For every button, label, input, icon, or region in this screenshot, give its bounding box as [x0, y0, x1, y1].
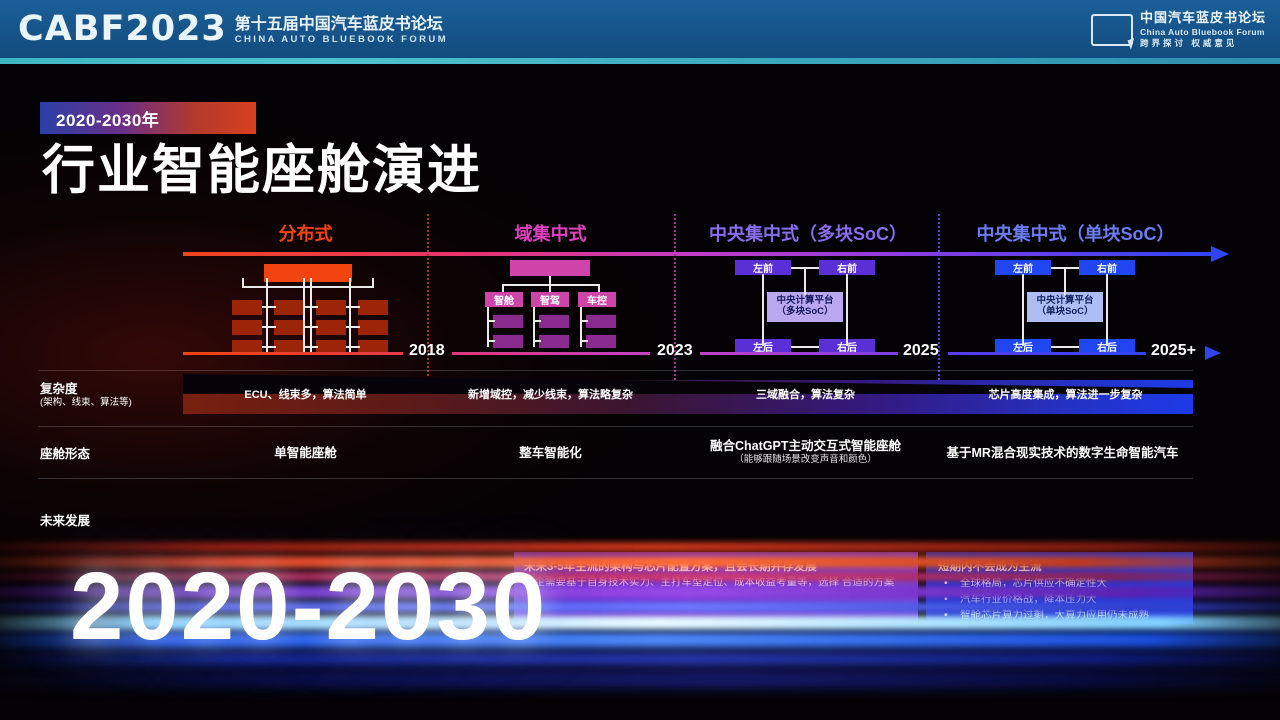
distributed-ecu [274, 320, 304, 335]
phase-divider-2 [938, 214, 940, 408]
cabf-logo-wordmark: CABF2023 [18, 12, 227, 47]
complexity-item-2: 三域融合，算法复杂 [673, 386, 938, 402]
domain-subnode [539, 315, 569, 328]
distributed-ecu [274, 300, 304, 315]
domain-subnode [539, 335, 569, 348]
distributed-ecu [232, 300, 262, 315]
phase-label-0: 分布式 [183, 220, 428, 246]
row-divider-bottom [38, 478, 1193, 479]
domain-link [502, 284, 600, 286]
architecture-diagram-domain: 智舱 智驾 车控 [485, 260, 615, 354]
distributed-link [304, 346, 318, 348]
distributed-link [346, 346, 360, 348]
year-segment-3 [948, 352, 1146, 355]
cursor-screen-icon [1091, 14, 1133, 46]
domain-link [598, 284, 600, 292]
evolution-arrow-head [1211, 246, 1229, 262]
zone-link [1022, 274, 1024, 346]
central-platform-title: 中央计算平台 [767, 295, 843, 306]
domain-subnode [586, 315, 616, 328]
cabf-logo: CABF2023 第十五届中国汽车蓝皮书论坛 CHINA AUTO BLUEBO… [18, 6, 448, 52]
eyebrow-label: 2020-2030年 [40, 106, 159, 131]
year-segment-0 [183, 352, 403, 355]
domain-box-driving: 智驾 [531, 292, 569, 307]
cockpit-item-1: 整车智能化 [428, 442, 673, 461]
zone-link [1051, 346, 1079, 348]
distributed-link [304, 306, 318, 308]
distributed-ecu [316, 300, 346, 315]
central-platform-subtitle: （多块SoC） [767, 306, 843, 317]
domain-link [549, 276, 551, 284]
distributed-bus [266, 278, 268, 354]
distributed-ecu [358, 300, 388, 315]
complexity-item-0: ECU、线束多，算法简单 [183, 386, 428, 402]
cockpit-item-0: 单智能座舱 [183, 442, 428, 461]
central-compute-platform-multi: 中央计算平台 （多块SoC） [767, 292, 843, 322]
domain-link [580, 320, 588, 322]
future-row-label: 未来发展 [40, 510, 90, 529]
distributed-link [304, 326, 318, 328]
zone-link [804, 267, 806, 295]
domain-link [502, 284, 504, 292]
cockpit-item-3: 基于MR混合现实技术的数字生命智能汽车 [925, 442, 1200, 461]
year-label-2025: 2025 [903, 342, 939, 360]
forum-logo-english: China Auto Bluebook Forum [1140, 27, 1266, 38]
distributed-ecu [316, 320, 346, 335]
row-divider-top [38, 370, 1193, 371]
architecture-diagram-distributed [228, 264, 388, 354]
slide-canvas: 2020-2030年 行业智能座舱演进 分布式 域集中式 中央集中式（多块SoC… [0, 64, 1280, 720]
evolution-arrow-line [183, 252, 1213, 256]
central-platform-title: 中央计算平台 [1027, 295, 1103, 306]
zone-link [762, 274, 764, 346]
cabf-logo-chinese: 第十五届中国汽车蓝皮书论坛 [235, 16, 448, 34]
row-divider-mid [38, 426, 1193, 427]
distributed-link [262, 346, 276, 348]
zone-link [1106, 274, 1108, 346]
forum-logo-chinese: 中国汽车蓝皮书论坛 [1140, 10, 1266, 26]
zone-link [1064, 267, 1066, 295]
domain-subnode [586, 335, 616, 348]
zone-link [791, 346, 819, 348]
phase-label-1: 域集中式 [428, 220, 673, 246]
distributed-bus [303, 278, 305, 354]
complexity-item-1: 新增域控，减少线束，算法略复杂 [428, 386, 673, 402]
phase-label-2: 中央集中式（多块SoC） [673, 220, 943, 246]
domain-link [487, 340, 495, 342]
zone-link [846, 274, 848, 346]
page-title: 行业智能座舱演进 [42, 141, 482, 202]
domain-box-cockpit: 智舱 [485, 292, 523, 307]
forum-logo: 中国汽车蓝皮书论坛 China Auto Bluebook Forum 跨界探讨… [1091, 9, 1266, 51]
complexity-row-sublabel: (架构、线束、算法等) [40, 394, 132, 408]
cabf-logo-chinese-block: 第十五届中国汽车蓝皮书论坛 CHINA AUTO BLUEBOOK FORUM [235, 13, 448, 46]
architecture-diagram-central-multi-soc: 左前 右前 左后 右后 中央计算平台 （多块SoC） [735, 260, 875, 354]
domain-subnode [493, 315, 523, 328]
distributed-link [262, 306, 276, 308]
domain-link [533, 340, 541, 342]
central-platform-subtitle: （单块SoC） [1027, 306, 1103, 317]
top-header-bar: CABF2023 第十五届中国汽车蓝皮书论坛 CHINA AUTO BLUEBO… [0, 0, 1280, 58]
zone-front-left: 左前 [735, 260, 791, 275]
year-axis-arrow-head [1205, 346, 1221, 360]
domain-subnode [493, 335, 523, 348]
decorative-year-range: 2020-2030 [70, 559, 547, 655]
forum-logo-tagline: 跨界探讨 权威意见 [1140, 38, 1266, 50]
zone-front-right: 右前 [1079, 260, 1135, 275]
domain-link [487, 320, 495, 322]
domain-link [580, 340, 588, 342]
cabf-logo-english: CHINA AUTO BLUEBOOK FORUM [235, 34, 448, 45]
domain-link [549, 284, 551, 292]
distributed-ecu [358, 320, 388, 335]
distributed-bus [310, 278, 312, 354]
streak [0, 542, 1280, 552]
year-segment-2 [700, 352, 898, 355]
distributed-link [346, 306, 360, 308]
complexity-item-3: 芯片高度集成，算法进一步复杂 [938, 386, 1193, 402]
streak [0, 670, 1280, 688]
cockpit-item-2-sub: （能够跟随场景改变声音和颜色） [663, 451, 948, 465]
distributed-ecu [232, 320, 262, 335]
domain-link [533, 320, 541, 322]
domain-box-vehicle-control: 车控 [578, 292, 616, 307]
phase-label-3: 中央集中式（单块SoC） [938, 220, 1213, 246]
year-label-2025plus: 2025+ [1151, 342, 1196, 360]
phase-divider-0 [427, 214, 429, 408]
zone-front-left: 左前 [995, 260, 1051, 275]
cockpit-row-label: 座舱形态 [40, 443, 90, 462]
year-label-2018: 2018 [409, 342, 445, 360]
central-compute-platform-single: 中央计算平台 （单块SoC） [1027, 292, 1103, 322]
forum-logo-text-block: 中国汽车蓝皮书论坛 China Auto Bluebook Forum 跨界探讨… [1140, 10, 1266, 49]
distributed-link [262, 326, 276, 328]
distributed-bus [349, 278, 351, 354]
zone-front-right: 右前 [819, 260, 875, 275]
year-segment-1 [452, 352, 650, 355]
distributed-bracket [242, 278, 374, 288]
eyebrow-tag: 2020-2030年 [40, 102, 256, 134]
domain-gateway [510, 260, 590, 276]
year-label-2023: 2023 [657, 342, 693, 360]
phase-divider-1 [674, 214, 676, 408]
distributed-link [346, 326, 360, 328]
architecture-diagram-central-single-soc: 左前 右前 左后 右后 中央计算平台 （单块SoC） [995, 260, 1135, 354]
